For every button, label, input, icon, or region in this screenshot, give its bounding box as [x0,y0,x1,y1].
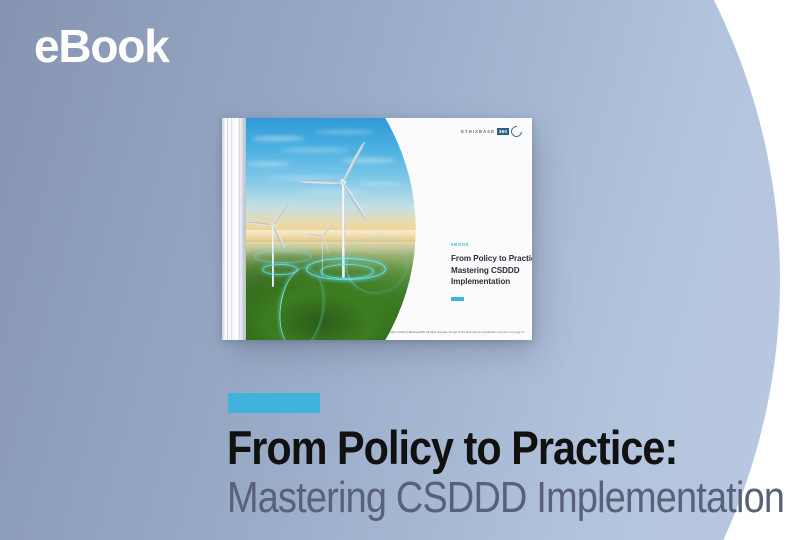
book-spine [222,118,246,340]
cover-copyright: Copyright © 2024 by Ethixbase360. All ri… [384,331,524,334]
circle-arc-icon [509,124,524,139]
glow-ring-distant [254,250,312,263]
brand-wordmark: ETHIXBASE [461,129,495,134]
cover-title-line-2: Mastering CSDDD [451,265,532,277]
cover-title-line-1: From Policy to Practice: [451,253,532,265]
book-front-face: ETHIXBASE 360 eBOOK From Policy to Pract… [246,118,532,340]
cover-accent-bar [451,297,464,300]
book-mockup: ETHIXBASE 360 eBOOK From Policy to Pract… [222,118,534,346]
cover-kicker: eBOOK [451,242,532,247]
cover-text-block: eBOOK From Policy to Practice: Mastering… [451,242,532,301]
book-cover: ETHIXBASE 360 eBOOK From Policy to Pract… [222,118,532,340]
cover-title-line-3: Implementation [451,276,532,288]
page-kicker: eBook [34,21,169,72]
page-headline: From Policy to Practice: [227,424,677,471]
promo-banner: eBook [0,0,810,540]
brand-suffix: 360 [497,128,508,134]
wind-turbine-photo-icon [246,118,421,340]
brand-logo: ETHIXBASE 360 [461,126,522,137]
cover-photo [246,118,421,340]
page-subheadline: Mastering CSDDD Implementation [227,476,784,520]
headline-accent-bar [228,393,320,413]
